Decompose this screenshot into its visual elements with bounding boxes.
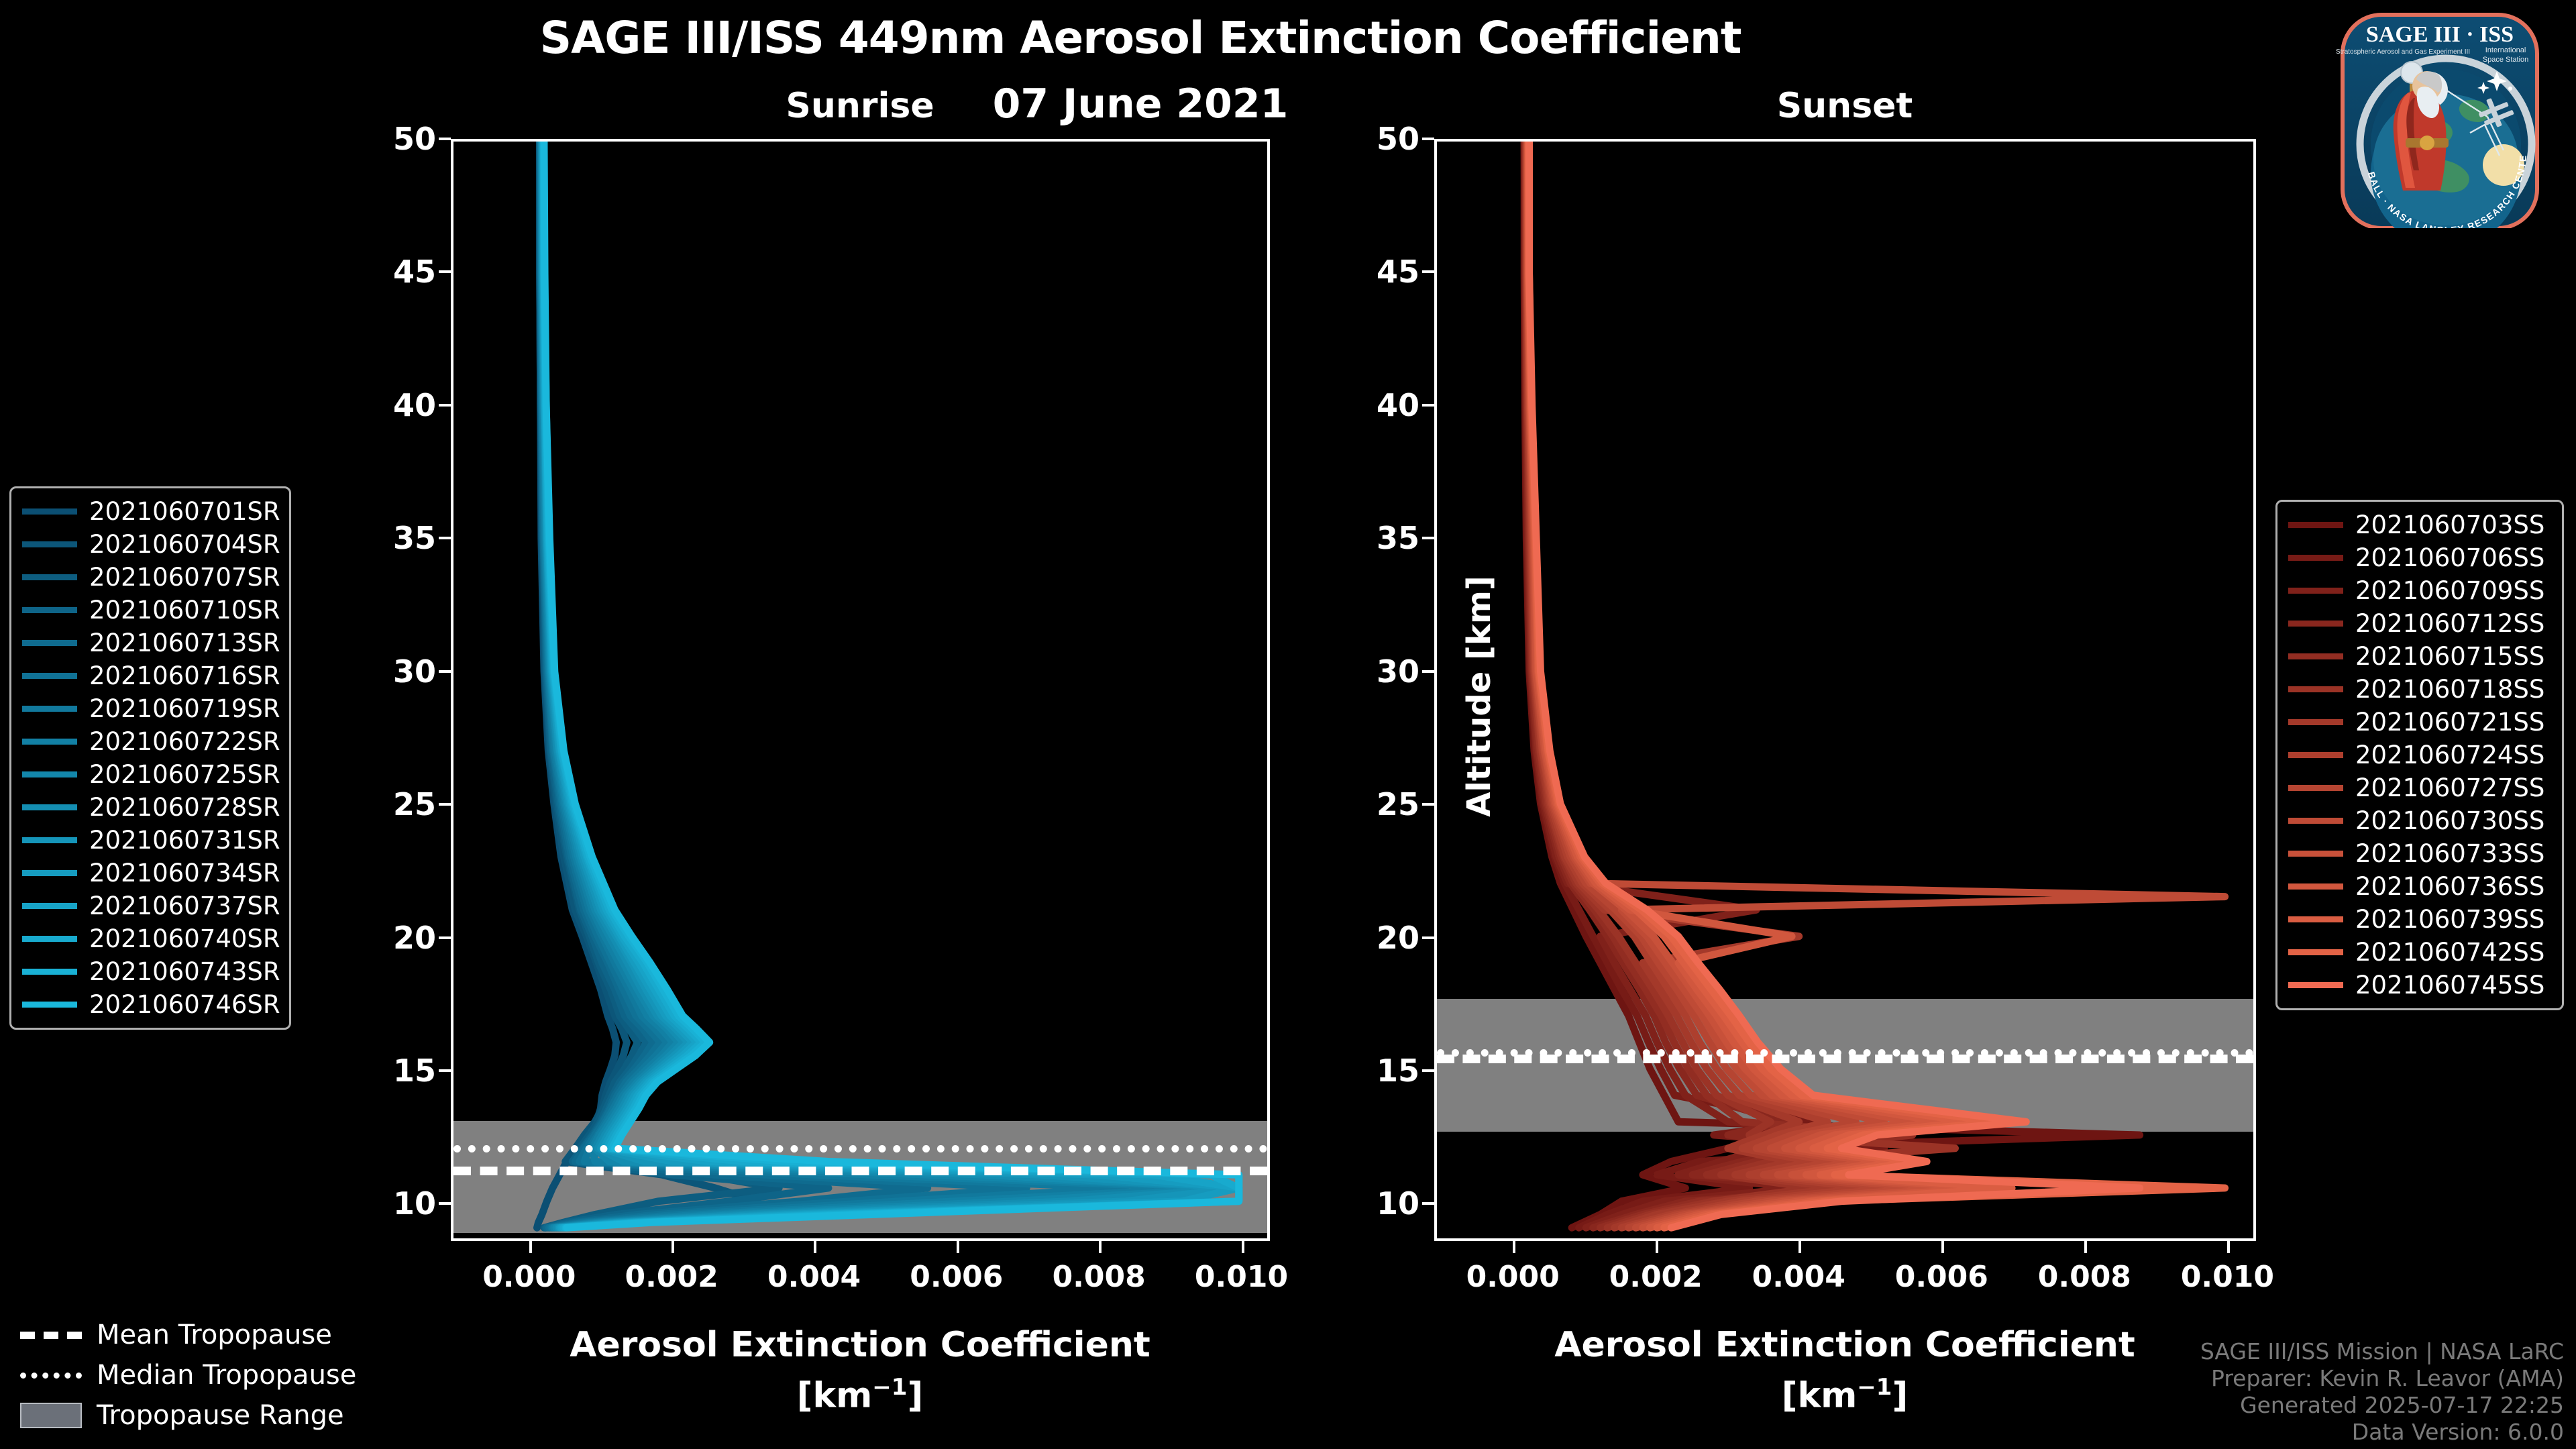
sunset-legend-color-swatch xyxy=(2288,785,2343,791)
sunset-legend-label: 2021060703SS xyxy=(2355,511,2544,539)
x-tick-label: 0.008 xyxy=(1025,1260,1173,1294)
sunset-legend-item[interactable]: 2021060721SS xyxy=(2288,706,2551,739)
y-tick-mark xyxy=(439,537,451,539)
y-tick-label: 35 xyxy=(1319,520,1419,556)
x-tick-label: 0.006 xyxy=(883,1260,1030,1294)
sunset-legend[interactable]: 2021060703SS2021060706SS2021060709SS2021… xyxy=(2275,500,2564,1010)
sunset-legend-item[interactable]: 2021060739SS xyxy=(2288,903,2551,936)
sunset-legend-item[interactable]: 2021060727SS xyxy=(2288,771,2551,804)
y-tick-label: 50 xyxy=(335,121,436,157)
sunrise-legend-label: 2021060743SR xyxy=(89,957,280,986)
sunrise-legend-label: 2021060710SR xyxy=(89,596,280,625)
logo-subtitle-right-1: International xyxy=(2485,46,2526,54)
sunset-legend-label: 2021060730SS xyxy=(2355,806,2544,835)
tropopause-range-swatch-icon xyxy=(20,1403,82,1428)
sunset-x-axis-label: Aerosol Extinction Coefficient xyxy=(1409,1325,2281,1365)
page-title: SAGE III/ISS 449nm Aerosol Extinction Co… xyxy=(0,12,2281,64)
sunrise-legend-label: 2021060734SR xyxy=(89,859,280,888)
sunrise-legend-item[interactable]: 2021060701SR xyxy=(22,495,278,528)
x-tick-mark xyxy=(957,1241,959,1253)
sunset-legend-color-swatch xyxy=(2288,883,2343,890)
x-tick-mark xyxy=(1799,1241,1801,1253)
y-tick-label: 40 xyxy=(335,387,436,423)
sunrise-x-axis-label: Aerosol Extinction Coefficient xyxy=(424,1325,1296,1365)
sunset-legend-color-swatch xyxy=(2288,916,2343,922)
x-tick-label: 0.008 xyxy=(2010,1260,2158,1294)
sunrise-legend-label: 2021060740SR xyxy=(89,924,280,953)
sunset-extinction-curves xyxy=(1437,142,2253,1238)
credits-line-version: Data Version: 6.0.0 xyxy=(2200,1419,2564,1446)
sunset-legend-item[interactable]: 2021060742SS xyxy=(2288,936,2551,969)
y-tick-mark xyxy=(439,404,451,407)
legend-item-tropopause-range: Tropopause Range xyxy=(20,1395,396,1436)
logo-title: SAGE III · ISS xyxy=(2366,22,2514,47)
unit-base: [km xyxy=(797,1375,873,1415)
unit-close: ] xyxy=(1892,1375,1908,1415)
sunrise-legend-item[interactable]: 2021060728SR xyxy=(22,791,278,824)
sunset-legend-color-swatch xyxy=(2288,949,2343,955)
sunrise-legend-item[interactable]: 2021060710SR xyxy=(22,594,278,627)
y-tick-mark xyxy=(1422,270,1434,273)
x-tick-mark xyxy=(1242,1241,1244,1253)
sunset-legend-item[interactable]: 2021060703SS xyxy=(2288,508,2551,541)
median-tropopause-label: Median Tropopause xyxy=(97,1360,356,1391)
sunrise-legend-item[interactable]: 2021060725SR xyxy=(22,758,278,791)
x-tick-label: 0.000 xyxy=(1439,1260,1587,1294)
sunrise-legend-color-swatch xyxy=(22,574,77,580)
sunset-legend-label: 2021060742SS xyxy=(2355,938,2544,967)
series-line xyxy=(1524,142,2140,1228)
x-tick-label: 0.010 xyxy=(2153,1260,2301,1294)
sunrise-legend-label: 2021060725SR xyxy=(89,760,280,789)
y-tick-label: 45 xyxy=(1319,254,1419,290)
sunset-legend-label: 2021060715SS xyxy=(2355,642,2544,671)
y-tick-mark xyxy=(439,270,451,273)
sunrise-legend-color-swatch xyxy=(22,936,77,942)
sunset-legend-label: 2021060736SS xyxy=(2355,872,2544,901)
sunset-legend-label: 2021060727SS xyxy=(2355,773,2544,802)
sunrise-legend-item[interactable]: 2021060707SR xyxy=(22,561,278,594)
sunset-panel-title: Sunset xyxy=(1644,86,2046,126)
y-tick-label: 50 xyxy=(1319,121,1419,157)
y-tick-mark xyxy=(439,1202,451,1205)
sunset-legend-label: 2021060721SS xyxy=(2355,708,2544,737)
x-tick-label: 0.002 xyxy=(598,1260,745,1294)
y-tick-label: 30 xyxy=(1319,653,1419,690)
sunrise-legend-label: 2021060716SR xyxy=(89,661,280,690)
sunrise-legend-item[interactable]: 2021060740SR xyxy=(22,922,278,955)
sunset-x-axis-unit: [km−1] xyxy=(1409,1374,2281,1415)
tropopause-legend: Mean Tropopause Median Tropopause Tropop… xyxy=(20,1315,396,1436)
sunrise-legend-color-swatch xyxy=(22,640,77,646)
sunrise-legend-label: 2021060731SR xyxy=(89,826,280,855)
sunset-legend-item[interactable]: 2021060712SS xyxy=(2288,607,2551,640)
x-tick-mark xyxy=(1941,1241,1944,1253)
sunrise-legend-color-swatch xyxy=(22,673,77,679)
y-tick-mark xyxy=(439,1069,451,1072)
sunrise-legend-label: 2021060737SR xyxy=(89,892,280,920)
legend-item-median-tropopause: Median Tropopause xyxy=(20,1355,396,1395)
sunrise-legend-label: 2021060701SR xyxy=(89,497,280,526)
x-tick-label: 0.002 xyxy=(1582,1260,1729,1294)
y-tick-label: 20 xyxy=(1319,920,1419,956)
y-tick-label: 25 xyxy=(335,786,436,822)
y-tick-mark xyxy=(1422,803,1434,806)
y-tick-label: 10 xyxy=(335,1185,436,1222)
sunrise-legend-color-swatch xyxy=(22,903,77,909)
legend-item-mean-tropopause: Mean Tropopause xyxy=(20,1315,396,1355)
y-tick-mark xyxy=(1422,1069,1434,1072)
sunset-legend-color-swatch xyxy=(2288,719,2343,725)
sunrise-legend-color-swatch xyxy=(22,837,77,843)
y-tick-label: 25 xyxy=(1319,786,1419,822)
sunset-legend-item[interactable]: 2021060724SS xyxy=(2288,739,2551,771)
sunset-legend-color-swatch xyxy=(2288,752,2343,758)
series-line xyxy=(1529,142,2225,1228)
sunrise-legend-color-swatch xyxy=(22,969,77,975)
logo-subtitle-left: Stratospheric Aerosol and Gas Experiment… xyxy=(2336,48,2470,56)
sunrise-legend-color-swatch xyxy=(22,541,77,547)
y-tick-mark xyxy=(1422,404,1434,407)
sunset-legend-color-swatch xyxy=(2288,555,2343,561)
sunset-plot-area xyxy=(1434,139,2256,1241)
sunrise-legend-label: 2021060707SR xyxy=(89,563,280,592)
credits-block: SAGE III/ISS Mission | NASA LaRC Prepare… xyxy=(2200,1338,2564,1446)
sunrise-legend-item[interactable]: 2021060716SR xyxy=(22,659,278,692)
x-tick-label: 0.004 xyxy=(740,1260,888,1294)
x-tick-label: 0.000 xyxy=(455,1260,603,1294)
sunrise-legend-color-swatch xyxy=(22,607,77,613)
sage-iii-iss-mission-patch-logo: SAGE III · ISS Stratospheric Aerosol and… xyxy=(2328,7,2549,228)
sunset-legend-label: 2021060724SS xyxy=(2355,741,2544,769)
sunrise-legend-item[interactable]: 2021060704SR xyxy=(22,528,278,561)
x-tick-mark xyxy=(1099,1241,1102,1253)
sunrise-legend-color-swatch xyxy=(22,804,77,810)
sunset-legend-item[interactable]: 2021060718SS xyxy=(2288,673,2551,706)
sunrise-legend-color-swatch xyxy=(22,870,77,876)
sunset-legend-color-swatch xyxy=(2288,653,2343,659)
sunrise-legend-color-swatch xyxy=(22,739,77,745)
x-tick-label: 0.004 xyxy=(1725,1260,1872,1294)
y-tick-mark xyxy=(1422,936,1434,939)
sunrise-legend-color-swatch xyxy=(22,508,77,515)
x-tick-mark xyxy=(1513,1241,1515,1253)
y-tick-label: 45 xyxy=(335,254,436,290)
unit-close: ] xyxy=(907,1375,923,1415)
sunrise-legend-label: 2021060713SR xyxy=(89,629,280,657)
x-tick-label: 0.010 xyxy=(1168,1260,1316,1294)
credits-line-mission: SAGE III/ISS Mission | NASA LaRC xyxy=(2200,1338,2564,1365)
sunrise-legend-item[interactable]: 2021060746SR xyxy=(22,988,278,1021)
sunset-legend-label: 2021060745SS xyxy=(2355,971,2544,1000)
sunset-legend-color-swatch xyxy=(2288,851,2343,857)
sunrise-legend-color-swatch xyxy=(22,1002,77,1008)
sunset-legend-color-swatch xyxy=(2288,522,2343,528)
credits-line-preparer: Preparer: Kevin R. Leavor (AMA) xyxy=(2200,1365,2564,1392)
mean-tropopause-line xyxy=(453,1167,1267,1175)
median-tropopause-line xyxy=(453,1145,1267,1152)
sunset-legend-item[interactable]: 2021060709SS xyxy=(2288,574,2551,607)
sunset-legend-label: 2021060718SS xyxy=(2355,675,2544,704)
sunrise-legend-label: 2021060722SR xyxy=(89,727,280,756)
y-tick-mark xyxy=(439,138,451,140)
x-tick-mark xyxy=(2084,1241,2087,1253)
sunrise-legend[interactable]: 2021060701SR2021060704SR2021060707SR2021… xyxy=(9,486,291,1030)
sunrise-panel-title: Sunrise xyxy=(659,86,1061,126)
x-tick-mark xyxy=(2227,1241,2230,1253)
sunset-legend-label: 2021060709SS xyxy=(2355,576,2544,605)
sunrise-legend-item[interactable]: 2021060731SR xyxy=(22,824,278,857)
y-tick-mark xyxy=(1422,537,1434,539)
sunset-legend-item[interactable]: 2021060706SS xyxy=(2288,541,2551,574)
sunset-legend-item[interactable]: 2021060736SS xyxy=(2288,870,2551,903)
sunset-legend-color-swatch xyxy=(2288,686,2343,692)
sunrise-legend-color-swatch xyxy=(22,771,77,777)
x-tick-mark xyxy=(529,1241,532,1253)
sunset-legend-label: 2021060706SS xyxy=(2355,543,2544,572)
y-tick-label: 10 xyxy=(1319,1185,1419,1222)
sunrise-legend-item[interactable]: 2021060722SR xyxy=(22,725,278,758)
y-tick-label: 15 xyxy=(1319,1053,1419,1089)
sunrise-legend-item[interactable]: 2021060734SR xyxy=(22,857,278,890)
x-tick-mark xyxy=(672,1241,674,1253)
x-tick-label: 0.006 xyxy=(1868,1260,2015,1294)
series-line xyxy=(1525,142,1856,1228)
unit-exponent: −1 xyxy=(1857,1374,1892,1401)
series-line xyxy=(1527,142,2224,1228)
sunset-legend-item[interactable]: 2021060745SS xyxy=(2288,969,2551,1002)
sunset-y-axis-label: Altitude [km] xyxy=(1460,529,1498,864)
sunrise-legend-item[interactable]: 2021060737SR xyxy=(22,890,278,922)
y-tick-mark xyxy=(1422,1202,1434,1205)
sunset-legend-color-swatch xyxy=(2288,818,2343,824)
sunrise-x-axis-unit: [km−1] xyxy=(424,1374,1296,1415)
unit-exponent: −1 xyxy=(872,1374,907,1401)
sunset-legend-color-swatch xyxy=(2288,621,2343,627)
y-tick-mark xyxy=(439,803,451,806)
sunrise-plot-area xyxy=(451,139,1270,1241)
x-tick-mark xyxy=(814,1241,816,1253)
sunrise-legend-label: 2021060719SR xyxy=(89,694,280,723)
logo-subtitle-right-2: Space Station xyxy=(2483,56,2529,64)
y-tick-label: 20 xyxy=(335,920,436,956)
credits-line-generated: Generated 2025-07-17 22:25 xyxy=(2200,1392,2564,1419)
sunrise-legend-label: 2021060746SR xyxy=(89,990,280,1019)
sunset-legend-item[interactable]: 2021060730SS xyxy=(2288,804,2551,837)
sunset-legend-item[interactable]: 2021060733SS xyxy=(2288,837,2551,870)
y-tick-mark xyxy=(439,670,451,673)
sunset-legend-color-swatch xyxy=(2288,588,2343,594)
mean-tropopause-line xyxy=(1437,1055,2253,1063)
sunrise-legend-label: 2021060728SR xyxy=(89,793,280,822)
sunrise-legend-item[interactable]: 2021060743SR xyxy=(22,955,278,988)
sunset-legend-label: 2021060712SS xyxy=(2355,609,2544,638)
sunrise-legend-item[interactable]: 2021060719SR xyxy=(22,692,278,725)
series-line xyxy=(1529,142,2140,1228)
y-tick-label: 40 xyxy=(1319,387,1419,423)
x-tick-mark xyxy=(1656,1241,1658,1253)
sunrise-legend-item[interactable]: 2021060713SR xyxy=(22,627,278,659)
median-tropopause-dot-icon xyxy=(20,1373,82,1379)
sunrise-legend-color-swatch xyxy=(22,706,77,712)
sunset-legend-color-swatch xyxy=(2288,982,2343,988)
y-tick-label: 30 xyxy=(335,653,436,690)
y-tick-mark xyxy=(1422,138,1434,140)
sunset-legend-item[interactable]: 2021060715SS xyxy=(2288,640,2551,673)
y-tick-mark xyxy=(439,936,451,939)
tropopause-range-label: Tropopause Range xyxy=(97,1400,344,1431)
sunset-legend-label: 2021060733SS xyxy=(2355,839,2544,868)
y-tick-label: 15 xyxy=(335,1053,436,1089)
mean-tropopause-label: Mean Tropopause xyxy=(97,1320,332,1350)
series-line xyxy=(541,142,928,1228)
mean-tropopause-dash-icon xyxy=(20,1332,82,1339)
sunrise-legend-label: 2021060704SR xyxy=(89,530,280,559)
y-tick-label: 35 xyxy=(335,520,436,556)
sunrise-extinction-curves xyxy=(453,142,1267,1238)
sunset-legend-label: 2021060739SS xyxy=(2355,905,2544,934)
y-tick-mark xyxy=(1422,670,1434,673)
series-line xyxy=(1527,142,1955,1228)
unit-base: [km xyxy=(1782,1375,1858,1415)
